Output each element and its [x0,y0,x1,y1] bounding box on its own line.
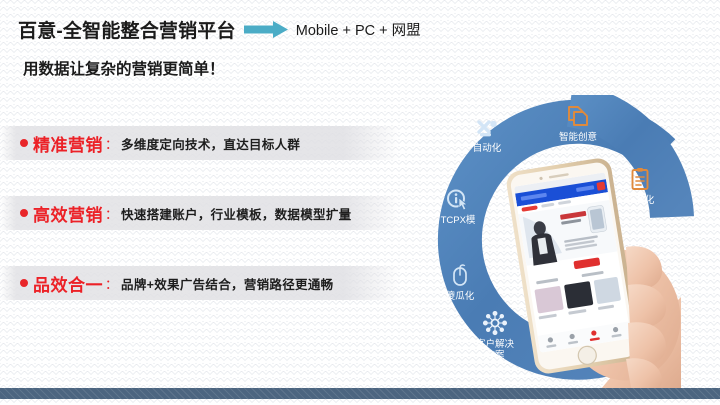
list-item: 高效营销 ： 快速搭建账户，行业模板，数据模型扩量 [0,196,400,230]
platform-channels-label: Mobile + PC + 网盟 [296,19,421,40]
slide-canvas: 百意-全智能整合营销平台 Mobile + PC + 网盟 用数据让复杂的营销更… [0,0,720,405]
bullet-colon: ： [105,204,118,223]
page-subtitle: 用数据让复杂的营销更简单！ [23,57,488,79]
slide-header: 百意-全智能整合营销平台 Mobile + PC + 网盟 用数据让复杂的营销更… [18,16,488,79]
red-bullet-dot [20,279,28,287]
feature-bullet-list: 精准营销 ： 多维度定向技术，直达目标人群 高效营销 ： 快速搭建账户，行业模板… [0,126,400,300]
list-item: 精准营销 ： 多维度定向技术，直达目标人群 [0,126,400,160]
bullet-colon: ： [105,134,118,153]
bullet-heading: 品效合一 [33,271,103,296]
right-arrow-icon [244,21,288,38]
bullet-colon: ： [105,274,118,293]
smartphone-in-hand [476,147,686,395]
capability-circle-diagram: 自动化 TCPX模 傻瓜化 [420,95,720,395]
bullet-description: 快速搭建账户，行业模板，数据模型扩量 [121,204,351,223]
red-bullet-dot [20,209,28,217]
bullet-heading: 精准营销 [33,131,103,156]
footer-bar [0,388,720,399]
list-item: 品效合一 ： 品牌+效果广告结合，营销路径更通畅 [0,266,400,300]
bullet-description: 品牌+效果广告结合，营销路径更通畅 [121,274,333,293]
title-row: 百意-全智能整合营销平台 Mobile + PC + 网盟 [18,16,488,43]
bullet-heading: 高效营销 [33,201,103,226]
bullet-description: 多维度定向技术，直达目标人群 [121,134,300,153]
page-title: 百意-全智能整合营销平台 [18,16,236,43]
red-bullet-dot [20,139,28,147]
